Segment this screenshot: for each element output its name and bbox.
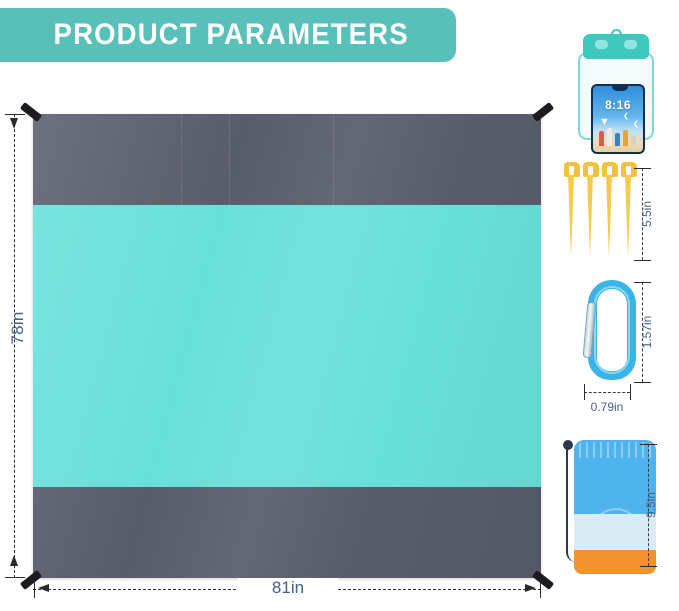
- stakes-dimension-cap-top: [634, 168, 651, 169]
- phone-inside-pouch: 8:16 ▼ ❮ ❮: [591, 84, 645, 154]
- page-title: PRODUCT PARAMETERS: [33, 18, 408, 52]
- height-arrow-up-icon: [10, 555, 18, 566]
- width-arrow-left-icon: [38, 584, 49, 592]
- stakes-dimension-cap-bottom: [634, 260, 651, 261]
- stake-shaft: [625, 175, 631, 258]
- person-figure: [623, 130, 628, 146]
- seagull-icon: ▼: [599, 116, 610, 128]
- carabiner-height-cap-bottom: [634, 382, 651, 383]
- height-dimension-cap-bottom: [5, 577, 25, 578]
- carabiner-width-label: 0.79in: [578, 400, 636, 414]
- carry-bag: [566, 430, 656, 576]
- header-banner: PRODUCT PARAMETERS: [0, 8, 456, 62]
- height-arrow-down-icon: [10, 118, 18, 129]
- mat-height-label: 78in: [8, 298, 28, 358]
- carabiner: [574, 278, 650, 384]
- person-figure: [615, 133, 620, 146]
- accessories-column: 8:16 ▼ ❮ ❮: [556, 0, 679, 611]
- bag-height-cap-top: [640, 444, 657, 445]
- stake-notch: [607, 166, 612, 175]
- corner-tab-top-right: [532, 102, 554, 122]
- bag-height-label: 9.5in: [644, 486, 658, 524]
- beach-umbrella-icon: [592, 504, 640, 538]
- bird-icon: ❮: [623, 112, 629, 120]
- carabiner-width-cap-right: [630, 384, 631, 400]
- bag-drawstring-cord: [566, 444, 578, 562]
- person-figure: [607, 128, 612, 146]
- width-dimension-cap-right: [540, 580, 541, 598]
- tent-stake: [564, 162, 580, 258]
- stake-notch: [569, 166, 574, 175]
- pouch-clip-lug: [624, 40, 637, 49]
- phone-notch: [612, 86, 628, 91]
- mat-surface: [33, 114, 541, 578]
- stakes-length-label: 5.5in: [640, 196, 654, 232]
- person-figure: [599, 131, 604, 146]
- mat-teal-band: [33, 205, 541, 487]
- pouch-clip-lug: [595, 40, 608, 49]
- beach-scene-people: [599, 128, 636, 146]
- waterproof-phone-pouch: 8:16 ▼ ❮ ❮: [578, 34, 654, 140]
- carabiner-width-cap-left: [584, 384, 585, 400]
- width-arrow-right-icon: [525, 584, 536, 592]
- bird-icon: ❮: [633, 120, 639, 128]
- tent-stakes-group: [564, 162, 642, 262]
- pouch-seal-clip: [583, 34, 649, 59]
- mat-fold-line: [229, 114, 230, 206]
- height-dimension-cap-top: [5, 114, 25, 115]
- mat-fold-line: [333, 114, 334, 206]
- carabiner-inner-highlight: [594, 286, 630, 374]
- bag-cord-knob: [563, 440, 573, 450]
- beach-blanket: [33, 114, 541, 578]
- product-parameters-infographic: PRODUCT PARAMETERS 78in 81in: [0, 0, 679, 611]
- carabiner-height-label: 1.57in: [640, 311, 654, 353]
- width-dimension-cap-left: [34, 580, 35, 598]
- bag-bottom-band: [574, 550, 656, 574]
- person-figure: [631, 135, 636, 146]
- carabiner-width-line: [584, 392, 630, 393]
- mat-fold-line: [181, 114, 182, 206]
- tent-stake: [621, 162, 637, 258]
- corner-tab-top-left: [20, 102, 42, 122]
- tent-stake: [583, 162, 599, 258]
- mat-width-label: 81in: [238, 578, 338, 598]
- tent-stake: [602, 162, 618, 258]
- stake-shaft: [606, 175, 612, 258]
- bag-height-cap-bottom: [640, 566, 657, 567]
- stake-notch: [588, 166, 593, 175]
- stake-notch: [626, 166, 631, 175]
- pouch-body: 8:16 ▼ ❮ ❮: [578, 52, 654, 140]
- stake-shaft: [587, 175, 593, 258]
- phone-clock-label: 8:16: [593, 98, 643, 112]
- stake-shaft: [568, 175, 574, 258]
- carabiner-height-cap-top: [634, 282, 651, 283]
